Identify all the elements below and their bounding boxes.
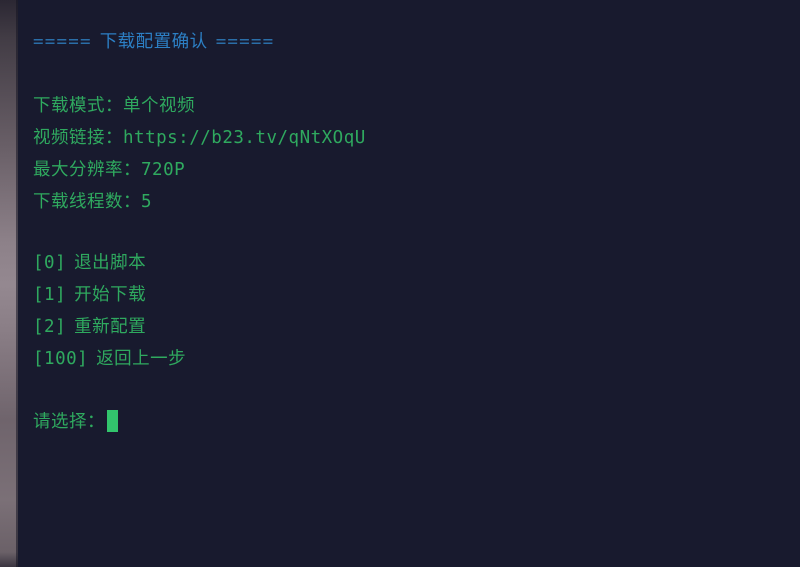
config-row-max-resolution: 最大分辨率：720P (33, 159, 185, 181)
config-value-download-mode: 单个视频 (123, 96, 195, 116)
config-label-max-resolution: 最大分辨率： (33, 160, 141, 180)
menu-item-exit-script[interactable]: [0]退出脚本 (33, 252, 146, 274)
header-line: =====下载配置确认===== (33, 31, 274, 53)
config-row-thread-count: 下载线程数：5 (33, 191, 152, 213)
config-label-video-link: 视频链接： (33, 128, 123, 148)
config-label-download-mode: 下载模式： (33, 96, 123, 116)
prompt-label: 请选择： (33, 412, 105, 432)
menu-key-100: [100] (33, 349, 88, 369)
config-value-max-resolution: 720P (141, 160, 185, 180)
text-cursor (107, 410, 118, 432)
config-label-thread-count: 下载线程数： (33, 192, 141, 212)
menu-label-reconfigure: 重新配置 (74, 317, 146, 337)
menu-key-0: [0] (33, 253, 66, 273)
page-title: 下载配置确认 (100, 32, 208, 52)
config-row-video-link: 视频链接：https://b23.tv/qNtXOqU (33, 127, 366, 149)
header-rule-left: ===== (33, 32, 92, 52)
menu-key-1: [1] (33, 285, 66, 305)
terminal-window: =====下载配置确认===== 下载模式：单个视频 视频链接：https://… (0, 0, 800, 567)
header-rule-right: ===== (216, 32, 275, 52)
scrollbar-left-edge[interactable] (0, 0, 18, 567)
menu-label-exit-script: 退出脚本 (74, 253, 146, 273)
config-value-thread-count: 5 (141, 192, 152, 212)
prompt-line[interactable]: 请选择： (33, 410, 118, 433)
menu-label-start-download: 开始下载 (74, 285, 146, 305)
terminal-output-area[interactable]: =====下载配置确认===== 下载模式：单个视频 视频链接：https://… (18, 0, 800, 567)
menu-item-go-back[interactable]: [100]返回上一步 (33, 348, 186, 370)
menu-item-reconfigure[interactable]: [2]重新配置 (33, 316, 146, 338)
menu-item-start-download[interactable]: [1]开始下载 (33, 284, 146, 306)
config-value-video-link: https://b23.tv/qNtXOqU (123, 128, 366, 148)
menu-key-2: [2] (33, 317, 66, 337)
menu-label-go-back: 返回上一步 (96, 349, 186, 369)
config-row-download-mode: 下载模式：单个视频 (33, 95, 195, 117)
